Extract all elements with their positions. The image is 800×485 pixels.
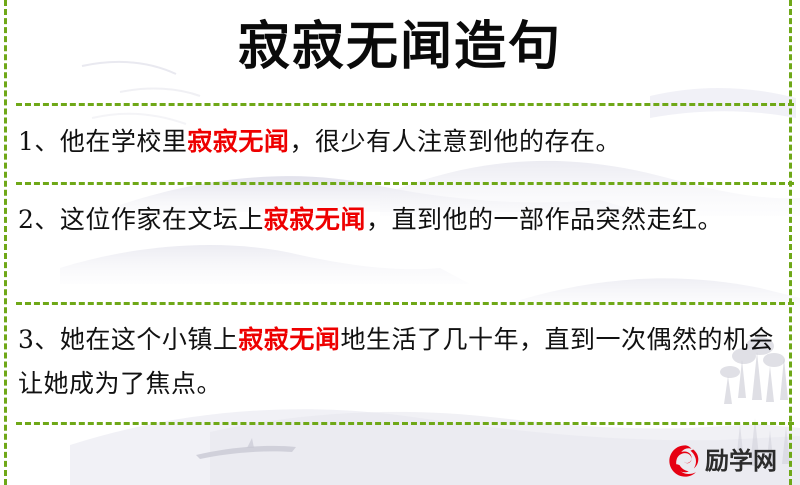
divider-below-title [16, 103, 794, 106]
divider-below-sentence-2 [16, 302, 794, 305]
sentence-text-before-1: 他在学校里 [60, 127, 188, 156]
idiom-highlight-1: 寂寂无闻 [187, 127, 289, 156]
frame-border-right [789, 0, 792, 485]
idiom-highlight-3: 寂寂无闻 [238, 325, 340, 354]
sentence-number-2: 2、 [18, 205, 60, 234]
sentence-item-3: 3、她在这个小镇上寂寂无闻地生活了几十年，直到一次偶然的机会让她成为了焦点。 [18, 318, 780, 406]
divider-below-sentence-1 [16, 182, 794, 185]
logo-text: 励学网 [705, 444, 777, 478]
idiom-highlight-2: 寂寂无闻 [264, 205, 366, 234]
sentence-number-1: 1、 [18, 127, 60, 156]
sentence-text-before-3: 她在这个小镇上 [60, 325, 239, 354]
sentence-item-2: 2、这位作家在文坛上寂寂无闻，直到他的一部作品突然走红。 [18, 198, 780, 242]
sentence-text-before-2: 这位作家在文坛上 [60, 205, 264, 234]
frame-border-left [4, 0, 7, 485]
sentence-number-3: 3、 [18, 325, 60, 354]
sentence-text-after-1: ，很少有人注意到他的存在。 [289, 127, 621, 156]
page-root: 寂寂无闻造句 1、他在学校里寂寂无闻，很少有人注意到他的存在。 2、这位作家在文… [0, 0, 800, 485]
sentence-item-1: 1、他在学校里寂寂无闻，很少有人注意到他的存在。 [18, 120, 780, 164]
page-title: 寂寂无闻造句 [0, 12, 800, 82]
divider-below-sentence-3 [16, 422, 794, 425]
sentence-text-after-2: ，直到他的一部作品突然走红。 [366, 205, 723, 234]
site-logo[interactable]: 励学网 [668, 444, 777, 478]
flame-swirl-icon [668, 444, 702, 478]
